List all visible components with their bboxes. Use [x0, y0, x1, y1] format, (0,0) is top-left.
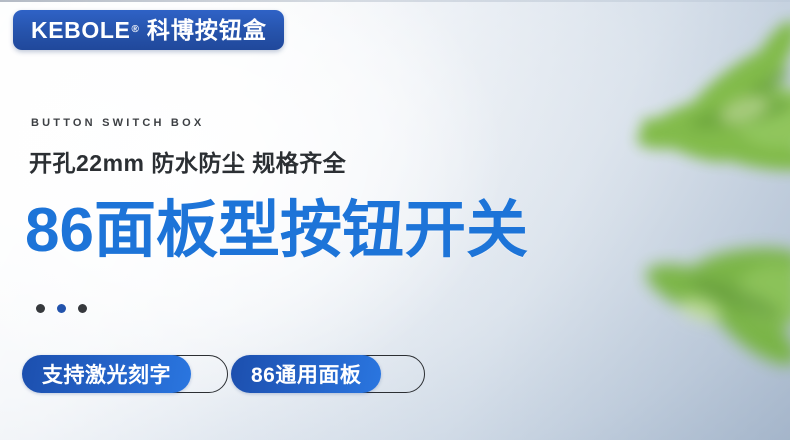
decorative-dots: [36, 304, 87, 313]
brand-name-cn: 科博按钮盒: [147, 19, 267, 42]
brand-name-en: KEBOLE: [31, 19, 130, 42]
feature-tag-laser-engraving: 支持激光刻字: [22, 355, 191, 393]
brand-logo-badge: KEBOLE ® 科博按钮盒: [13, 10, 284, 50]
dot-1-icon: [36, 304, 45, 313]
dot-2-icon: [57, 304, 66, 313]
plant-leaf-top-icon: [566, 22, 790, 212]
plant-leaf-bottom-icon: [600, 236, 790, 406]
page-title: 86面板型按钮开关: [25, 198, 528, 263]
registered-trademark-icon: ®: [131, 25, 138, 35]
feature-tag-row: 支持激光刻字 86通用面板: [22, 355, 381, 393]
eyebrow-text: BUTTON SWITCH BOX: [31, 117, 204, 129]
tag-label-2: 86通用面板: [231, 355, 381, 393]
feature-tag-universal-panel: 86通用面板: [231, 355, 381, 393]
subtitle-text: 开孔22mm 防水防尘 规格齐全: [29, 144, 346, 178]
top-edge-line: [0, 0, 790, 2]
dot-3-icon: [78, 304, 87, 313]
tag-label-1: 支持激光刻字: [22, 355, 191, 393]
promo-banner: KEBOLE ® 科博按钮盒 BUTTON SWITCH BOX 开孔22mm …: [0, 0, 790, 440]
